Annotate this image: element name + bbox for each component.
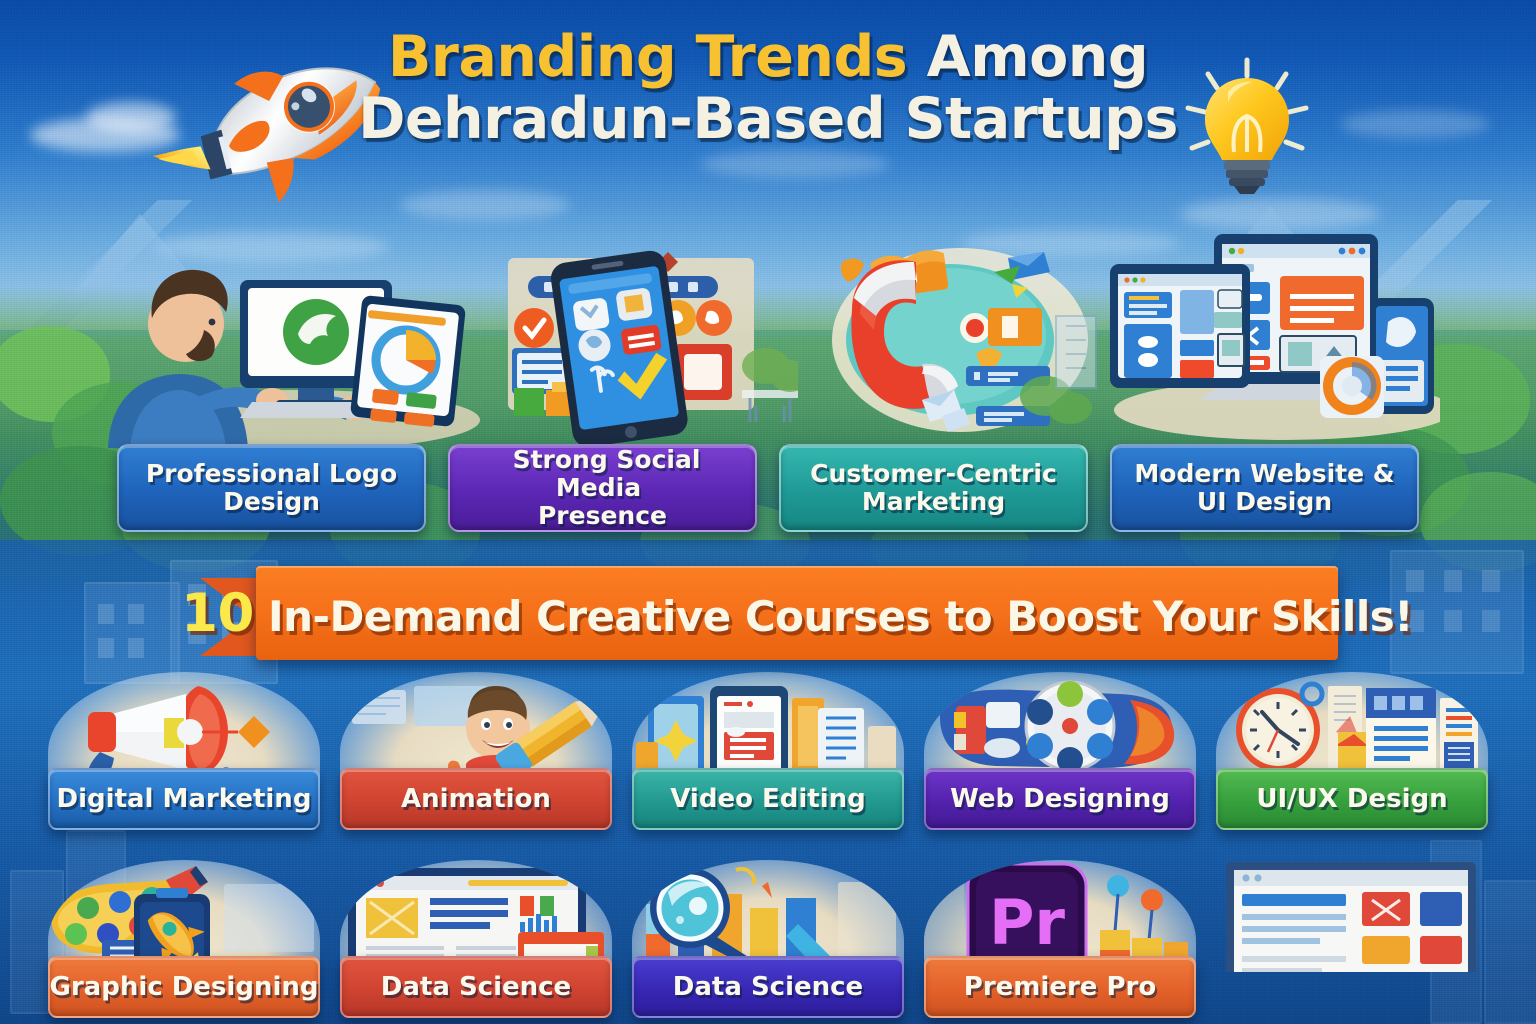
course-label-text: Premiere Pro [964,972,1156,1002]
smartphone-social-apps-scene [498,240,798,446]
course-card-premiere-pro[interactable]: Pr Premiere Pro [924,860,1196,1018]
title-highlight: Branding Trends [388,24,907,90]
trend-label-line1: Modern Website & [1126,459,1402,488]
course-card-graphic-designing[interactable]: Graphic Designing [48,860,320,1018]
trend-label-line2: UI Design [1189,487,1340,516]
branding-trends-row: Professional Logo Design Strong Social M… [0,444,1536,530]
course-card-data-science-analytics[interactable]: Data Science [632,860,904,1018]
banner-number: 10 [181,583,254,644]
course-card-video-editing[interactable]: Video Editing [632,672,904,830]
trend-label-line1: Strong Social Media [505,445,701,502]
course-label-text: Data Science [673,972,863,1002]
course-label[interactable]: Premiere Pro [924,956,1196,1018]
course-label-text: Animation [401,784,551,814]
title-line-2: Dehradun-Based Startups [0,90,1536,148]
trend-card-modern-website-ui-design[interactable]: Modern Website & UI Design [1110,444,1419,532]
course-label[interactable]: Data Science [632,956,904,1018]
course-label-text: UI/UX Design [1256,784,1447,814]
course-label-text: Digital Marketing [57,784,312,814]
course-card-browser-window[interactable] [1216,860,1488,1018]
course-label[interactable]: Animation [340,768,612,830]
poster-title: Branding Trends Among Dehradun-Based Sta… [0,28,1536,148]
course-row-2: Graphic Designing [0,860,1536,1018]
course-label-text: Web Designing [950,784,1170,814]
course-row-1: Digital Marketing [0,672,1536,830]
trend-label-line2: Design [215,487,328,516]
course-label[interactable]: Data Science [340,956,612,1018]
ribbon-body: 10 In-Demand Creative Courses to Boost Y… [256,566,1338,660]
trend-label-line2: Marketing [854,487,1013,516]
course-card-ui-ux-design[interactable]: UI/UX Design [1216,672,1488,830]
trend-label-line2: Presence [530,501,675,530]
magnet-attracting-customers-scene [830,240,1102,446]
course-card-digital-marketing[interactable]: Digital Marketing [48,672,320,830]
trend-card-professional-logo-design[interactable]: Professional Logo Design [117,444,426,532]
trend-card-strong-social-media-presence[interactable]: Strong Social Media Presence [448,444,757,532]
course-label[interactable]: Graphic Designing [48,956,320,1018]
title-rest: Among [927,24,1149,90]
courses-banner: 10 In-Demand Creative Courses to Boost Y… [0,566,1536,672]
course-label[interactable]: Video Editing [632,768,904,830]
premiere-glyph: Pr [989,886,1065,959]
course-label-text: Data Science [381,972,571,1002]
trend-label-line1: Customer-Centric [802,459,1065,488]
course-label[interactable]: UI/UX Design [1216,768,1488,830]
trend-card-customer-centric-marketing[interactable]: Customer-Centric Marketing [779,444,1088,532]
course-label[interactable]: Web Designing [924,768,1196,830]
designer-at-desk-scene [100,252,480,448]
course-label-text: Graphic Designing [50,972,319,1002]
banner-text: In-Demand Creative Courses to Boost Your… [268,592,1413,641]
course-card-animation[interactable]: Animation [340,672,612,830]
course-label-text: Video Editing [670,784,865,814]
infographic-poster: Branding Trends Among Dehradun-Based Sta… [0,0,1536,1024]
course-card-web-designing[interactable]: Web Designing [924,672,1196,830]
course-card-data-science-dashboard[interactable]: Data Science [340,860,612,1018]
course-label[interactable]: Digital Marketing [48,768,320,830]
trend-label-line1: Professional Logo [138,459,405,488]
responsive-devices-mockup-scene [1104,224,1440,442]
